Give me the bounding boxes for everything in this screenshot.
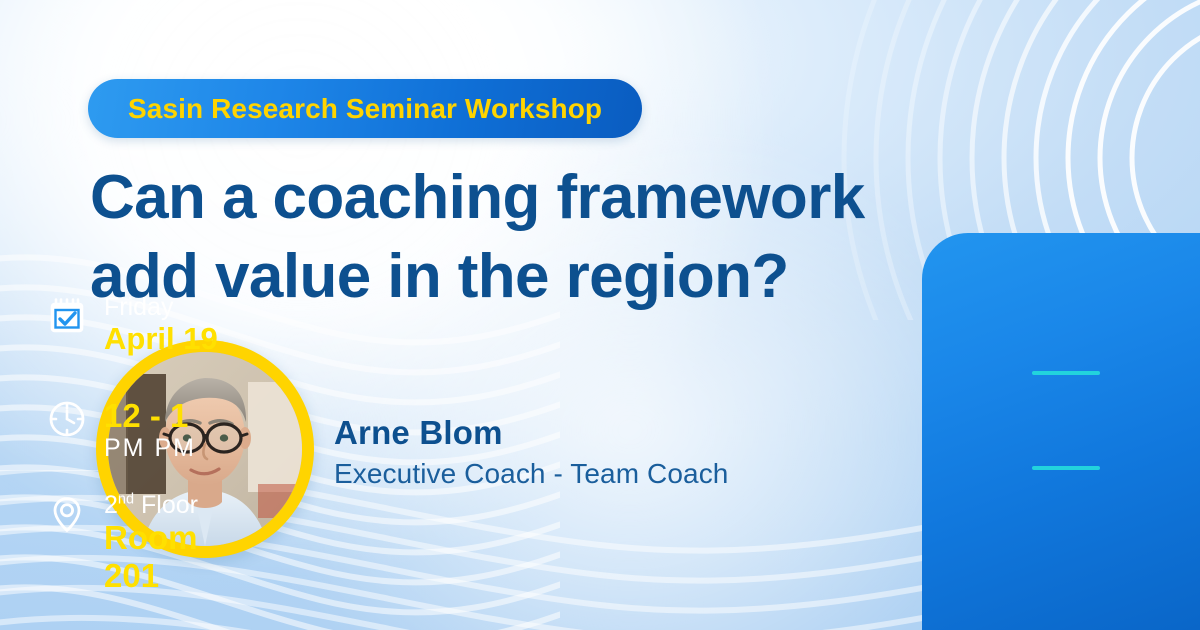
event-time-row: 12 - 1 PM PM [46, 397, 196, 463]
event-room-line-2: 201 [104, 557, 198, 595]
page-title: Can a coaching framework add value in th… [90, 158, 930, 317]
calendar-check-icon [46, 294, 88, 335]
event-room-line-1: Room [104, 519, 198, 557]
panel-divider-2 [1032, 466, 1100, 470]
event-date-text: Friday April 19 [104, 294, 218, 356]
event-poster: Sasin Research Seminar Workshop Can a co… [0, 0, 1200, 630]
event-time-range: 12 - 1 [104, 397, 196, 435]
event-floor-suffix: nd [118, 492, 134, 508]
event-date-row: Friday April 19 [46, 294, 218, 356]
clock-icon [46, 397, 88, 438]
event-location-text: 2nd Floor Room 201 [104, 492, 198, 595]
map-pin-icon [46, 492, 88, 533]
speaker-info: Arne Blom Executive Coach - Team Coach [334, 414, 728, 490]
event-floor: 2nd Floor [104, 492, 198, 519]
event-date: April 19 [104, 321, 218, 357]
event-location-row: 2nd Floor Room 201 [46, 492, 198, 595]
event-details-panel [922, 233, 1200, 630]
event-floor-number: 2 [104, 491, 118, 519]
speaker-role: Executive Coach - Team Coach [334, 458, 728, 490]
page-title-line-1: Can a coaching framework [90, 163, 865, 232]
panel-divider-1 [1032, 371, 1100, 375]
event-floor-word: Floor [141, 491, 198, 519]
seminar-badge-label: Sasin Research Seminar Workshop [128, 93, 602, 125]
event-time-meridiem: PM PM [104, 435, 196, 463]
speaker-name: Arne Blom [334, 414, 728, 452]
event-time-text: 12 - 1 PM PM [104, 397, 196, 463]
seminar-badge: Sasin Research Seminar Workshop [88, 79, 642, 138]
event-weekday: Friday [104, 293, 173, 321]
